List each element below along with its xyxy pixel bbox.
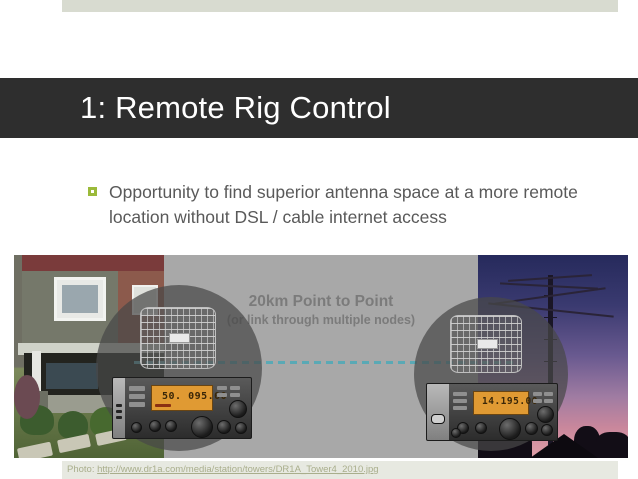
house-porch-window xyxy=(46,363,98,389)
radio-button xyxy=(533,392,542,396)
bullet-list: Opportunity to find superior antenna spa… xyxy=(88,180,588,230)
radio-display-screen: 50. 095.00 xyxy=(151,385,213,411)
radio-main-tuning-knob xyxy=(191,416,213,438)
radio-knob xyxy=(149,420,161,432)
grid-antenna-icon xyxy=(140,307,216,369)
radio-knob xyxy=(235,422,247,434)
radio-display-screen: 14.195.00 xyxy=(473,391,529,415)
radio-button xyxy=(544,392,553,396)
slide-title-band: 1: Remote Rig Control xyxy=(0,78,638,138)
radio-side-handle xyxy=(431,414,445,424)
photo-credit-link[interactable]: http://www.dr1a.com/media/station/towers… xyxy=(97,464,378,475)
house-walkway-stone xyxy=(17,442,53,458)
antenna-feed-horn xyxy=(169,333,190,343)
radio-button xyxy=(230,393,240,397)
radio-button xyxy=(217,393,227,397)
house-bay-window-glass xyxy=(62,285,98,313)
radio-knob xyxy=(451,428,461,438)
radio-side-button xyxy=(116,416,122,419)
left-node-bubble: 50. 095.00 Site B xyxy=(96,285,262,451)
photo-credit-text: Photo: http://www.dr1a.com/media/station… xyxy=(67,464,379,475)
network-diagram-image: 20km Point to Point (or link through mul… xyxy=(14,255,628,458)
radio-display-marker xyxy=(155,404,171,407)
radio-side-button xyxy=(116,410,122,413)
radio-knob xyxy=(475,422,487,434)
bullet-item-text: Opportunity to find superior antenna spa… xyxy=(109,180,588,230)
right-node-bubble: 14.195.00 xyxy=(414,297,568,451)
radio-knob xyxy=(541,424,553,436)
radio-button xyxy=(129,386,145,391)
tower-cross-brace xyxy=(544,317,557,318)
radio-button xyxy=(129,402,145,407)
top-decorative-bar xyxy=(62,0,618,12)
radio-side-button xyxy=(116,404,122,407)
radio-multi-knob xyxy=(537,406,554,423)
transceiver-radio: 50. 095.00 xyxy=(112,377,252,439)
radio-knob xyxy=(165,420,177,432)
radio-button xyxy=(230,386,240,390)
radio-button xyxy=(453,392,467,396)
radio-knob xyxy=(525,422,538,435)
transceiver-radio: 14.195.00 xyxy=(426,383,558,441)
radio-button xyxy=(129,394,145,399)
radio-button xyxy=(453,399,467,403)
page-title: 1: Remote Rig Control xyxy=(80,90,391,126)
radio-button xyxy=(533,399,542,403)
grid-antenna-icon xyxy=(450,315,522,373)
antenna-feed-horn xyxy=(477,339,497,348)
radio-side-panel xyxy=(113,378,125,439)
hollow-square-bullet-icon xyxy=(88,187,97,196)
photo-credit-prefix: Photo: xyxy=(67,464,97,475)
radio-frequency-readout: 14.195.00 xyxy=(482,396,538,407)
radio-button xyxy=(453,406,467,410)
radio-multi-knob xyxy=(229,400,247,418)
house-shrub xyxy=(14,375,40,419)
radio-button xyxy=(544,399,553,403)
radio-button xyxy=(217,386,227,390)
radio-side-panel xyxy=(427,384,449,441)
radio-knob xyxy=(217,420,231,434)
tree-silhouette xyxy=(596,432,628,458)
photo-credit-bar: Photo: http://www.dr1a.com/media/station… xyxy=(62,461,618,479)
radio-main-tuning-knob xyxy=(499,418,521,440)
radio-knob xyxy=(131,422,142,433)
